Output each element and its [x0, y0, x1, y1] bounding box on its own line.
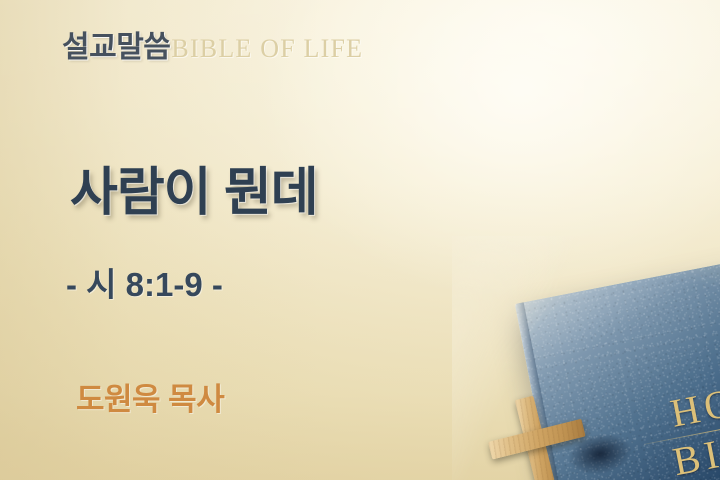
bible-photo: The HOLY BIBLE English Standard Version: [452, 236, 720, 480]
sermon-title-slide: 설교말씀 BIBLE OF LIFE 사람이 뭔데 - 시 8:1-9 - 도원…: [0, 0, 720, 480]
brand-english-label: BIBLE OF LIFE: [171, 34, 363, 64]
sermon-title: 사람이 뭔데: [70, 150, 318, 225]
scripture-reference: - 시 8:1-9 -: [66, 258, 223, 306]
brand-header: 설교말씀 BIBLE OF LIFE: [62, 22, 363, 66]
brand-korean-label: 설교말씀: [62, 22, 170, 66]
speaker-name: 도원욱 목사: [76, 374, 224, 419]
